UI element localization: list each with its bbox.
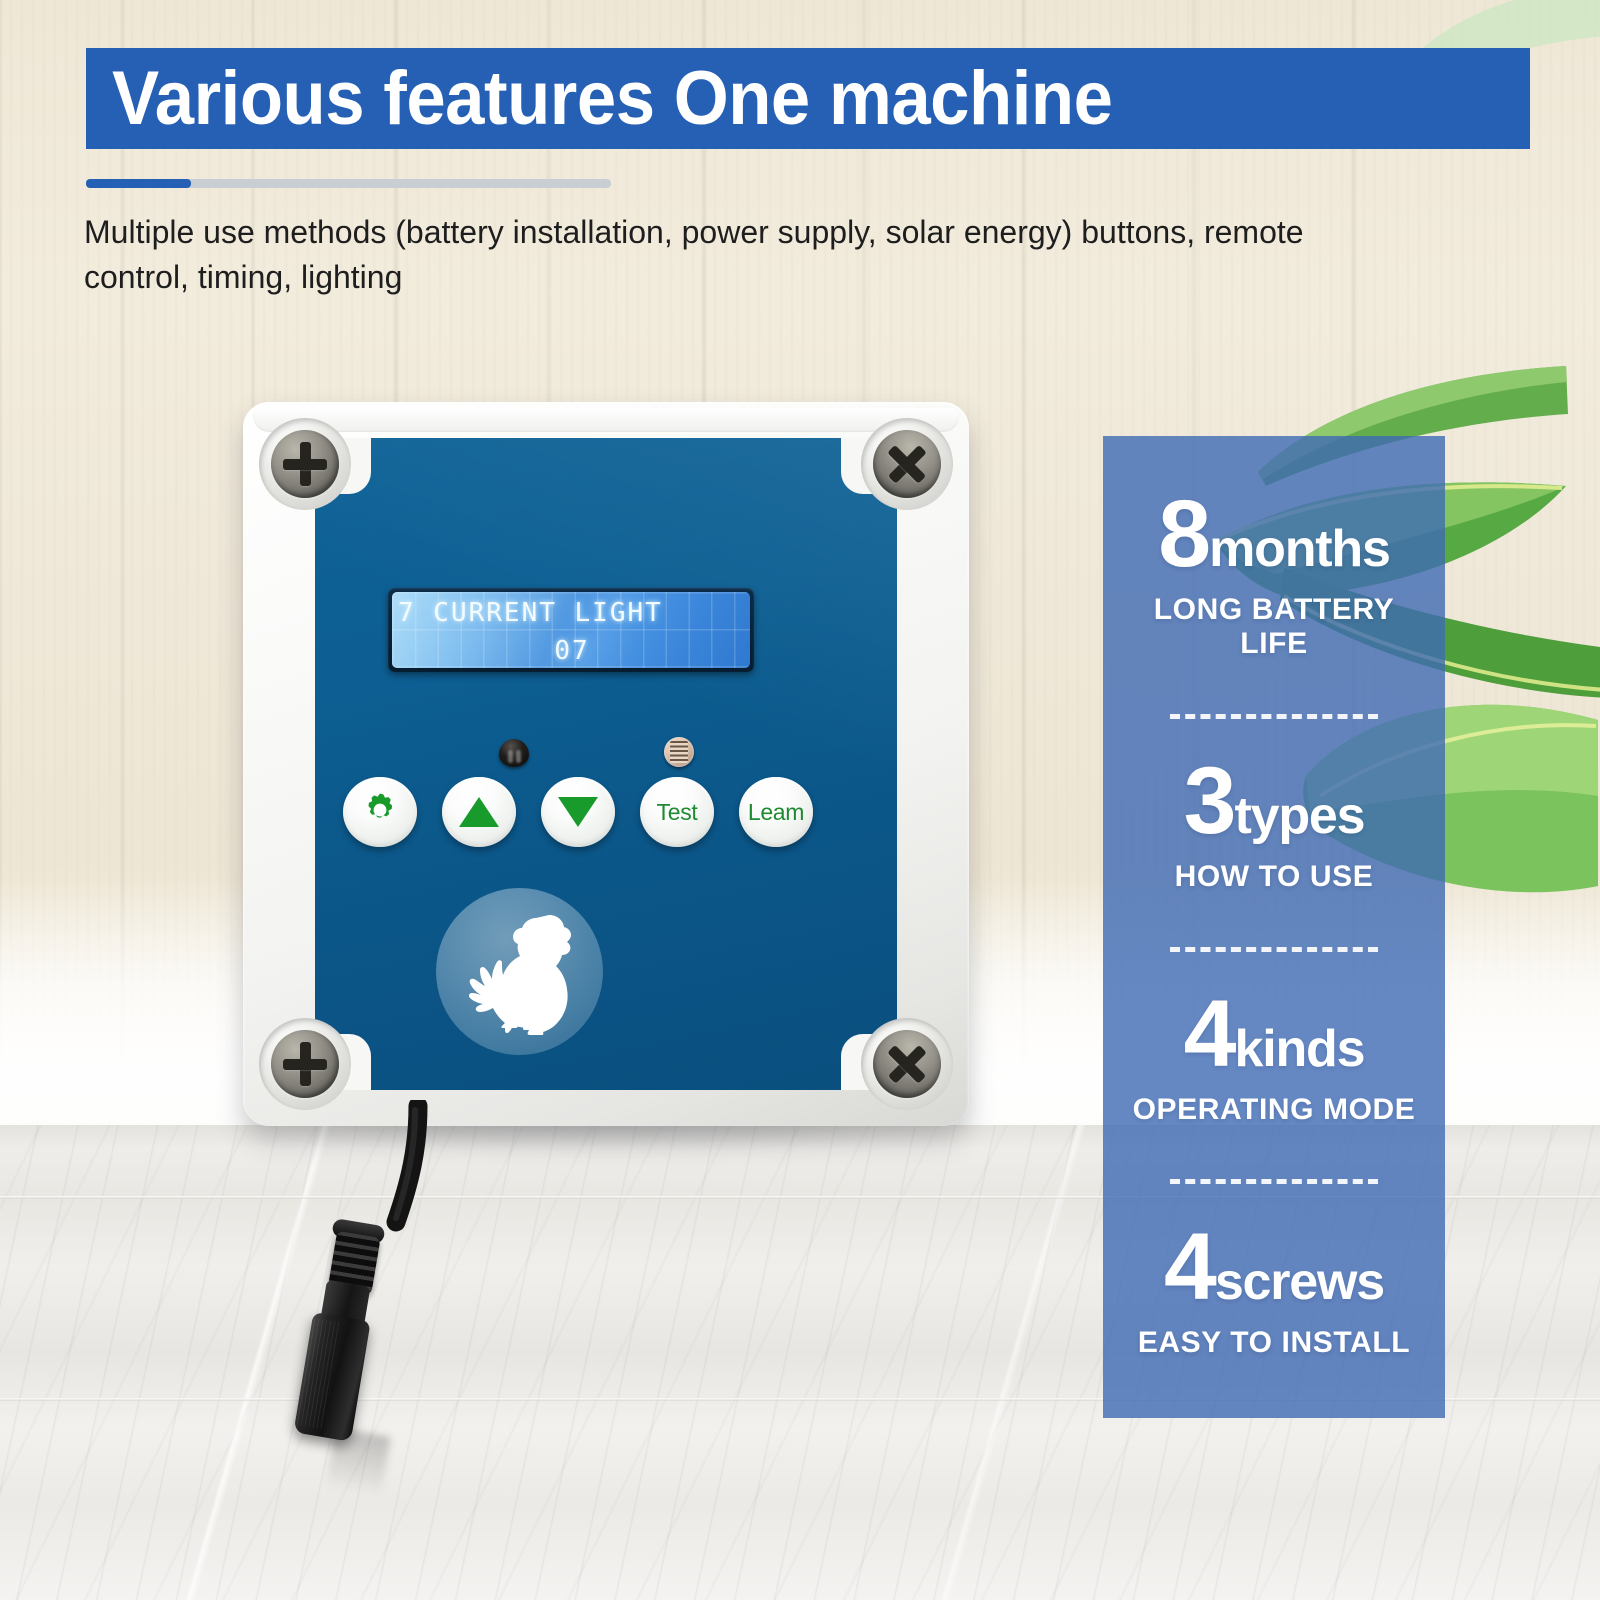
stat-unit: months (1209, 520, 1390, 578)
up-button[interactable] (442, 777, 516, 847)
power-cable (250, 1100, 610, 1520)
stat-unit: screws (1215, 1253, 1384, 1311)
connector-reflection (325, 1428, 390, 1498)
page-title: Various features One machine (112, 55, 1112, 142)
lcd-glare (392, 592, 647, 668)
stat-how-to-use: 3types HOW TO USE (1103, 755, 1445, 894)
triangle-down-icon (558, 797, 598, 827)
accent-rule (86, 179, 611, 188)
stat-number: 8 (1158, 481, 1209, 587)
connector-barrel (293, 1312, 370, 1442)
light-sensor-icon (664, 737, 694, 767)
stat-subtitle: HOW TO USE (1117, 860, 1431, 894)
screw-bottom-left (259, 1018, 351, 1110)
test-button[interactable]: Test (640, 777, 714, 847)
gear-icon (360, 790, 400, 835)
subheadline-text: Multiple use methods (battery installati… (84, 210, 1314, 300)
headline-banner: Various features One machine (86, 48, 1530, 149)
stat-divider (1170, 714, 1378, 719)
test-button-label: Test (657, 799, 698, 826)
learn-button-label: Leam (748, 799, 804, 826)
triangle-up-icon (459, 797, 499, 827)
settings-button[interactable] (343, 777, 417, 847)
device-top-lip (253, 408, 959, 432)
button-row: Test Leam (343, 774, 813, 850)
stat-number: 3 (1184, 748, 1235, 854)
stat-headline: 4screws (1117, 1221, 1431, 1314)
down-button[interactable] (541, 777, 615, 847)
chicken-coop-door-controller: 7 CURRENT LIGHT 07 Test Leam (243, 402, 969, 1126)
stat-subtitle: LONG BATTERY LIFE (1117, 593, 1431, 661)
stat-unit: types (1235, 787, 1365, 845)
screw-top-left (259, 418, 351, 510)
learn-button[interactable]: Leam (739, 777, 813, 847)
stat-unit: kinds (1235, 1020, 1365, 1078)
stat-subtitle: OPERATING MODE (1117, 1093, 1431, 1127)
screw-top-right (861, 418, 953, 510)
phillips-screw-icon (271, 1030, 339, 1098)
stat-number: 4 (1164, 1214, 1215, 1320)
stat-operating-mode: 4kinds OPERATING MODE (1103, 988, 1445, 1127)
ir-receiver-icon (499, 739, 529, 767)
stat-subtitle: EASY TO INSTALL (1117, 1326, 1431, 1360)
stat-headline: 8months (1117, 488, 1431, 581)
stat-battery-life: 8months LONG BATTERY LIFE (1103, 488, 1445, 661)
brand-badge (436, 888, 603, 1055)
stat-easy-install: 4screws EASY TO INSTALL (1103, 1221, 1445, 1360)
device-faceplate (315, 438, 897, 1090)
lcd-display: 7 CURRENT LIGHT 07 (388, 588, 754, 672)
stat-divider (1170, 947, 1378, 952)
feature-stats-panel: 8months LONG BATTERY LIFE 3types HOW TO … (1103, 436, 1445, 1418)
screw-bottom-right (861, 1018, 953, 1110)
stat-number: 4 (1184, 981, 1235, 1087)
lcd-glass: 7 CURRENT LIGHT 07 (392, 592, 750, 668)
stat-headline: 4kinds (1117, 988, 1431, 1081)
stat-divider (1170, 1179, 1378, 1184)
phillips-screw-icon (271, 430, 339, 498)
stat-headline: 3types (1117, 755, 1431, 848)
